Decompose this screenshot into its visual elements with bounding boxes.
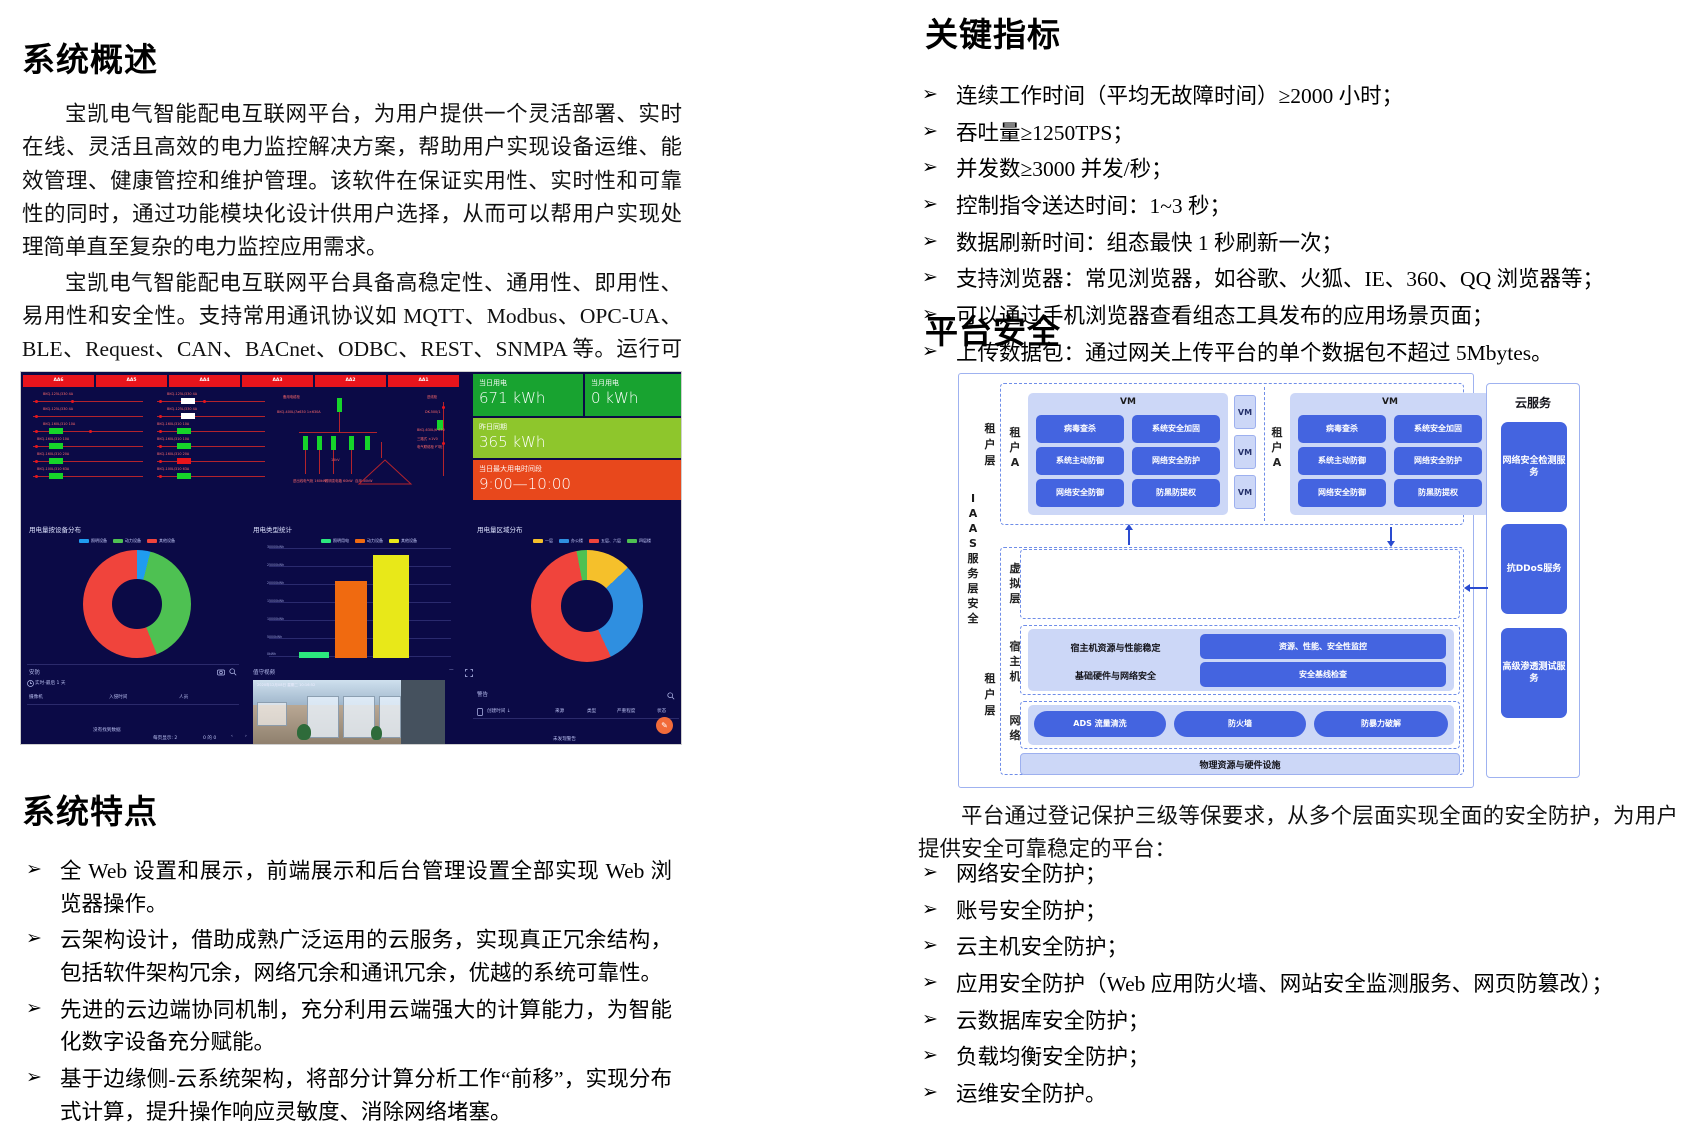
legend-label: 动力设备	[367, 538, 383, 544]
cloud-chip-network-security-detection[interactable]: 网络安全检测服务	[1501, 422, 1567, 512]
rows-per-page[interactable]: 每页显示: 2	[153, 735, 177, 741]
legend-swatch-power-use	[355, 539, 365, 543]
sld-column: 进线柜 DK-500/1 BKQ-630L/6 630 三路式 ×1V0 电气联…	[403, 392, 459, 496]
y-tick-label: 5000kWh	[267, 635, 282, 639]
legend-swatch-lighting-use	[321, 539, 331, 543]
list-item-text: 基于边缘侧-云系统架构，将部分计算分析工作“前移”，实现分布式计算，提升操作响应…	[60, 1067, 672, 1124]
page-title-kpi: 关键指标	[925, 8, 1061, 56]
list-item: ➢控制指令送达时间：1~3 秒；	[918, 190, 1658, 223]
list-item-text: 云数据库安全防护；	[956, 1009, 1150, 1033]
sld-label: 电气联络柜 PT柜	[417, 444, 443, 449]
arrow-left-icon	[1464, 584, 1470, 592]
list-item-text: 吞吐量≥1250TPS；	[956, 121, 1134, 145]
list-item-text: 连续工作时间（平均无故障时间）≥2000 小时；	[956, 84, 1403, 108]
host-left-text-1: 宿主机资源与性能稳定	[1038, 635, 1193, 659]
search-icon[interactable]	[229, 668, 237, 676]
left-column: 系统概述 宝凯电气智能配电互联网平台，为用户提供一个灵活部署、实时在线、灵活且高…	[0, 0, 780, 1123]
sld-label: BKQ-630L/6 630	[417, 428, 445, 432]
edit-fab-button[interactable]: ✎	[656, 717, 673, 734]
panel-subtitle-security: 实时-最后 1 天	[35, 680, 65, 686]
security-list: ➢网络安全防护； ➢账号安全防护； ➢云主机安全防护； ➢应用安全防护（Web …	[918, 858, 1678, 1115]
sld-header-bar: AA6 AA5 AA4 AA3 AA2 AA1	[23, 375, 459, 387]
sld-header-cell: AA3	[242, 375, 313, 387]
list-item: ➢云架构设计，借助成熟广泛运用的云服务，实现真正冗余结构，包括软件架构冗余，网络…	[22, 924, 672, 989]
sld-label: BKQ-125L/330 4A	[167, 392, 197, 396]
legend-swatch-other	[147, 539, 157, 543]
chart-title-area-donut: 用电量区域分布	[477, 524, 523, 534]
sld-body: BKQ-125L/330 4A BKQ-125L/330 4A BKQ-160L…	[23, 388, 459, 500]
col-header-severity[interactable]: 严重程度	[617, 708, 635, 714]
sld-header-cell: AA4	[169, 375, 240, 387]
kpi-value: 671 kWh	[479, 388, 577, 408]
list-item-text: 全 Web 设置和展示，前端展示和后台管理设置全部实现 Web 浏览器操作。	[60, 859, 672, 916]
sld-label: BKQ-160L/310 20A	[37, 452, 69, 456]
legend-item: 动力设备	[113, 538, 141, 544]
chip-network-protection[interactable]: 网络安全防护	[1394, 447, 1482, 475]
list-item: ➢数据刷新时间：组态最快 1 秒刷新一次；	[918, 227, 1658, 260]
cloud-services-column: 云服务 网络安全检测服务 抗DDoS服务 高级渗透测试服务	[1486, 383, 1580, 778]
list-item-text: 云主机安全防护；	[956, 935, 1128, 959]
next-page-icon[interactable]: ›	[245, 734, 247, 739]
arrow-bullet-icon: ➢	[922, 191, 938, 220]
col-header-type[interactable]: 类型	[587, 708, 596, 714]
chip-system-hardening[interactable]: 系统安全加固	[1394, 415, 1482, 443]
chip-anti-privilege-escalation[interactable]: 防黑防提权	[1394, 479, 1482, 507]
legend-swatch-floor4	[627, 539, 637, 543]
kpi-card-month-usage: 当月用电 0 kWh	[585, 374, 681, 416]
host-panel: 宿主机资源与性能稳定 基础硬件与网络安全 资源、性能、安全性监控 安全基线检查	[1028, 629, 1454, 691]
legend-item: 照明设备	[79, 538, 107, 544]
bar-chart-type-stats: 30000kWh 25000kWh 20000kWh 15000kWh 1000…	[269, 548, 451, 658]
list-item: ➢负载均衡安全防护；	[918, 1041, 1678, 1074]
chart-title-type-bar: 用电类型统计	[253, 524, 292, 534]
col-header-created[interactable]: 创建时间 ↓	[487, 708, 511, 714]
arrow-bullet-icon: ➢	[922, 859, 938, 888]
list-item-text: 支持浏览器：常见浏览器，如谷歌、火狐、IE、360、QQ 浏览器等；	[956, 267, 1604, 291]
bar-power	[335, 581, 367, 658]
y-tick-label: 10000kWh	[267, 617, 284, 621]
arrow-bullet-icon: ➢	[922, 118, 938, 147]
sld-label: BKQ-160L/310 10A	[37, 437, 69, 441]
list-item: ➢先进的云边端协同机制，充分利用云端强大的计算能力，为智能化数字设备充分赋能。	[22, 994, 672, 1059]
kpi-card-yesterday-usage: 昨日同期 365 kWh	[473, 418, 681, 458]
y-tick-label: 25000kWh	[267, 563, 284, 567]
legend-label: 照明用电	[333, 538, 349, 544]
arrow-bullet-icon: ➢	[922, 264, 938, 293]
col-header-person: 人员	[179, 694, 188, 700]
sld-label: 备用电缆柜	[283, 394, 300, 399]
sld-label: BKQ-100L/310 63A	[37, 467, 69, 471]
video-feed[interactable]: 2020年12月08日 星期二 10:16:52	[253, 680, 445, 745]
iaas-vertical-label: IAAS服务层安全	[966, 491, 980, 626]
arrow-up-icon	[1125, 524, 1133, 530]
list-item-text: 先进的云边端协同机制，充分利用云端强大的计算能力，为智能化数字设备充分赋能。	[60, 998, 672, 1055]
list-item: ➢运维安全防护。	[918, 1078, 1678, 1111]
arrow-bullet-icon: ➢	[26, 995, 42, 1024]
donut-chart-device-distribution	[83, 550, 191, 658]
sld-label: BKQ-160L/310 10A	[43, 422, 75, 426]
list-item-text: 负载均衡安全防护；	[956, 1045, 1150, 1069]
prev-page-icon[interactable]: ‹	[231, 734, 233, 739]
list-item: ➢支持浏览器：常见浏览器，如谷歌、火狐、IE、360、QQ 浏览器等；	[918, 263, 1658, 296]
sld-label: DK-500/1	[425, 410, 440, 414]
arrow-bullet-icon: ➢	[922, 1006, 938, 1035]
panel-title-alarm: 警告	[477, 690, 488, 698]
legend-item: 动力设备	[355, 538, 383, 544]
network-panel: ADS 流量清洗 防火墙 防暴力破解	[1028, 705, 1454, 745]
sld-label: BKQ-125L/330 4A	[167, 407, 197, 411]
legend-swatch-lighting	[79, 539, 89, 543]
list-item: ➢应用安全防护（Web 应用防火墙、网站安全监测服务、网页防篡改）；	[918, 968, 1678, 1001]
legend-label: 其他设备	[401, 538, 417, 544]
legend-label: 办公楼	[571, 538, 583, 544]
kpi-label: 当日最大用电时间段	[479, 464, 675, 474]
y-tick-label: 0kWh	[267, 652, 276, 656]
cloud-chip-anti-ddos[interactable]: 抗DDoS服务	[1501, 524, 1567, 614]
list-item-text: 并发数≥3000 并发/秒；	[956, 157, 1173, 181]
tenant-layer-label-bottom: 租户层	[982, 671, 998, 719]
sld-label: BKQ-125L/330 4A	[43, 407, 73, 411]
page-title-overview: 系统概述	[22, 33, 158, 81]
features-list: ➢全 Web 设置和展示，前端展示和后台管理设置全部实现 Web 浏览器操作。 …	[22, 855, 672, 1132]
clock-icon	[27, 680, 34, 687]
video-timestamp: 2020年12月08日 星期二 10:16:52	[257, 683, 315, 688]
list-item: ➢账号安全防护；	[918, 895, 1678, 928]
sld-label: BKQ-125L/330 4A	[43, 392, 73, 396]
bar-lighting	[299, 652, 329, 658]
arrow-bullet-icon: ➢	[26, 925, 42, 954]
minimize-icon[interactable]: —	[449, 668, 454, 673]
legend-label: 动力设备	[125, 538, 141, 544]
legend-type-bar: 照明用电 动力设备 其他设备	[321, 538, 417, 544]
host-left-text-2: 基础硬件与网络安全	[1038, 663, 1193, 687]
overview-paragraph-1: 宝凯电气智能配电互联网平台，为用户提供一个灵活部署、实时在线、灵活且高效的电力监…	[22, 98, 682, 265]
arrow-bullet-icon: ➢	[922, 969, 938, 998]
chip-resource-monitoring[interactable]: 资源、性能、安全性监控	[1200, 634, 1446, 659]
page-title-security: 平台安全	[925, 305, 1061, 353]
chip-anti-brute-force[interactable]: 防暴力破解	[1314, 711, 1448, 737]
dashboard-screenshot: AA6 AA5 AA4 AA3 AA2 AA1 BKQ-125L/330 4A	[20, 371, 682, 745]
security-paragraph: 平台通过登记保护三级等保要求，从多个层面实现全面的安全防护，为用户提供安全可靠稳…	[918, 800, 1678, 867]
chip-ads-traffic-cleaning[interactable]: ADS 流量清洗	[1034, 711, 1166, 737]
sld-label: BKQ-160L/310 10A	[157, 422, 189, 426]
vm-slot[interactable]: VM	[1234, 475, 1256, 509]
legend-swatch-power	[113, 539, 123, 543]
chip-virus-scan[interactable]: 病毒查杀	[1298, 415, 1386, 443]
chip-system-hardening[interactable]: 系统安全加固	[1132, 415, 1220, 443]
chip-active-defense[interactable]: 系统主动防御	[1036, 447, 1124, 475]
legend-item: 其他设备	[389, 538, 417, 544]
kpi-card-peak-window: 当日最大用电时间段 9:00—10:00	[473, 460, 681, 500]
legend-label: 五层、六层	[601, 538, 621, 544]
legend-item: 四层楼	[627, 538, 651, 544]
sld-label: BKQ-160L/310 10A	[157, 437, 189, 441]
list-item-text: 数据刷新时间：组态最快 1 秒刷新一次；	[956, 231, 1343, 255]
vm-title: VM	[1028, 397, 1228, 407]
chip-virus-scan[interactable]: 病毒查杀	[1036, 415, 1124, 443]
kpi-value: 0 kWh	[591, 388, 675, 408]
panel-title-security: 安防	[29, 668, 40, 676]
list-item: ➢吞吐量≥1250TPS；	[918, 117, 1658, 150]
fullscreen-icon[interactable]	[465, 669, 473, 677]
tenant-layer-label-top: 租户层	[982, 421, 998, 469]
col-header-camera: 摄像机	[29, 694, 43, 700]
tenant-a-label-left: 租户A	[1008, 425, 1022, 470]
sld-label: 进线柜	[427, 394, 437, 399]
arrow-bullet-icon: ➢	[922, 81, 938, 110]
single-line-diagram: AA6 AA5 AA4 AA3 AA2 AA1 BKQ-125L/330 4A	[21, 372, 461, 502]
sld-header-cell: AA5	[96, 375, 167, 387]
sld-header-cell: AA6	[23, 375, 94, 387]
list-item: ➢基于边缘侧-云系统架构，将部分计算分析工作“前移”，实现分布式计算，提升操作响…	[22, 1063, 672, 1128]
list-item-text: 账号安全防护；	[956, 899, 1107, 923]
kpi-label: 当日用电	[479, 378, 577, 388]
empty-state-security: 没有找到数据	[93, 727, 121, 733]
cloud-services-title: 云服务	[1487, 394, 1579, 411]
arrow-bullet-icon: ➢	[922, 1079, 938, 1108]
y-tick-label: 30000kWh	[267, 545, 284, 549]
chip-network-defense[interactable]: 网络安全防御	[1298, 479, 1386, 507]
list-item: ➢网络安全防护；	[918, 858, 1678, 891]
list-item: ➢连续工作时间（平均无故障时间）≥2000 小时；	[918, 80, 1658, 113]
bar-other	[373, 555, 409, 658]
legend-label: 一层	[545, 538, 553, 544]
arrow-bullet-icon: ➢	[26, 1064, 42, 1093]
vm-slot[interactable]: VM	[1234, 435, 1256, 469]
vm-slot[interactable]: VM	[1234, 395, 1256, 429]
sld-label: 三路式 ×1V0	[417, 436, 438, 441]
list-item: ➢全 Web 设置和展示，前端展示和后台管理设置全部实现 Web 浏览器操作。	[22, 855, 672, 920]
col-header-source[interactable]: 来源	[555, 708, 564, 714]
document-page: 系统概述 宝凯电气智能配电互联网平台，为用户提供一个灵活部署、实时在线、灵活且高…	[0, 0, 1700, 1123]
arrow-up-shaft	[1128, 529, 1130, 545]
kpi-card-today-usage: 当日用电 671 kWh	[473, 374, 583, 416]
chip-network-protection[interactable]: 网络安全防护	[1132, 447, 1220, 475]
list-item-text: 云架构设计，借助成熟广泛运用的云服务，实现真正冗余结构，包括软件架构冗余，网络冗…	[60, 928, 672, 985]
tenant-a-label-right: 租户A	[1270, 425, 1284, 470]
vm-panel-left: VM 病毒查杀 系统安全加固 系统主动防御 网络安全防护 网络安全防御 防黑防提…	[1028, 393, 1228, 515]
empty-state-alarm: 未发现警告	[553, 736, 576, 742]
right-column: 关键指标 ➢连续工作时间（平均无故障时间）≥2000 小时； ➢吞吐量≥1250…	[900, 0, 1700, 1123]
camera-icon[interactable]	[217, 668, 225, 676]
panel-title-video: 值守视频	[253, 668, 275, 676]
security-architecture-diagram: IAAS服务层安全 租户层 租户层 租户A VM 病毒查杀 系统安全加固 系统主…	[958, 373, 1588, 788]
list-item: ➢并发数≥3000 并发/秒；	[918, 153, 1658, 186]
col-header-status[interactable]: 状态	[657, 708, 666, 714]
chip-network-defense[interactable]: 网络安全防御	[1036, 479, 1124, 507]
physical-resources-bar: 物理资源与硬件设施	[1020, 753, 1460, 775]
arrow-bullet-icon: ➢	[922, 1042, 938, 1071]
legend-item: 其他设备	[147, 538, 175, 544]
sld-label: 进出线电气柜 160kW	[293, 478, 326, 483]
donut-chart-area-distribution	[531, 550, 643, 662]
sld-header-cell: AA2	[315, 375, 386, 387]
kpi-value: 365 kWh	[479, 432, 675, 452]
search-icon[interactable]	[667, 692, 675, 700]
chart-title-device-donut: 用电量按设备分布	[29, 524, 81, 534]
y-tick-label: 15000kWh	[267, 599, 284, 603]
page-indicator: 0 的 0	[203, 735, 216, 741]
list-item: ➢云主机安全防护；	[918, 931, 1678, 964]
list-item-text: 运维安全防护。	[956, 1082, 1107, 1106]
kpi-cards: 当日用电 671 kWh 当月用电 0 kWh 昨日同期 365 kWh 当日最…	[473, 374, 681, 500]
kpi-value: 9:00—10:00	[479, 474, 675, 494]
y-tick-label: 20000kWh	[267, 581, 284, 585]
legend-label: 其他设备	[159, 538, 175, 544]
sld-column: BKQ-125L/330 4A BKQ-125L/330 4A BKQ-160L…	[27, 392, 147, 496]
legend-area-donut: 一层 办公楼 五层、六层 四层楼	[533, 538, 651, 544]
vm-title: VM	[1290, 397, 1490, 407]
chip-active-defense[interactable]: 系统主动防御	[1298, 447, 1386, 475]
chip-firewall[interactable]: 防火墙	[1174, 711, 1306, 737]
vm-panel-right: VM 病毒查杀 系统安全加固 系统主动防御 网络安全防护 网络安全防御 防黑防提…	[1290, 393, 1490, 515]
chip-anti-privilege-escalation[interactable]: 防黑防提权	[1132, 479, 1220, 507]
sld-label: 15kV	[331, 458, 340, 462]
list-item: ➢云数据库安全防护；	[918, 1005, 1678, 1038]
col-header-time: 入侵时间	[109, 694, 127, 700]
chip-security-baseline-check[interactable]: 安全基线检查	[1200, 662, 1446, 687]
legend-swatch-office	[559, 539, 569, 543]
arrow-bullet-icon: ➢	[26, 856, 42, 885]
legend-item: 办公楼	[559, 538, 583, 544]
arrow-bullet-icon: ➢	[922, 154, 938, 183]
sld-column: BKQ-125L/330 4A BKQ-125L/330 4A BKQ-160L…	[151, 392, 271, 496]
sld-label: BKQ-400L/7a630 1×630A	[277, 410, 321, 414]
kpi-label: 当月用电	[591, 378, 675, 388]
legend-item: 照明用电	[321, 538, 349, 544]
page-title-features: 系统特点	[22, 785, 158, 833]
list-item-text: 应用安全防护（Web 应用防火墙、网站安全监测服务、网页防篡改）；	[956, 972, 1613, 996]
legend-label: 照明设备	[91, 538, 107, 544]
sld-header-cell: AA1	[388, 375, 459, 387]
sld-label: BKQ-160L/310 20A	[157, 452, 189, 456]
list-item-text: 网络安全防护；	[956, 862, 1107, 886]
arrow-left-shaft	[1470, 587, 1488, 589]
legend-swatch-other-use	[389, 539, 399, 543]
legend-label: 四层楼	[639, 538, 651, 544]
arrow-bullet-icon: ➢	[922, 896, 938, 925]
arrow-bullet-icon: ➢	[922, 932, 938, 961]
list-item-text: 控制指令送达时间：1~3 秒；	[956, 194, 1231, 218]
device-icon	[477, 708, 483, 716]
legend-item: 五层、六层	[589, 538, 621, 544]
legend-swatch-floor56	[589, 539, 599, 543]
legend-item: 一层	[533, 538, 553, 544]
legend-swatch-floor1	[533, 539, 543, 543]
cloud-chip-penetration-test[interactable]: 高级渗透测试服务	[1501, 628, 1567, 718]
legend-device-donut: 照明设备 动力设备 其他设备	[79, 538, 175, 544]
kpi-label: 昨日同期	[479, 422, 675, 432]
arrow-bullet-icon: ➢	[922, 228, 938, 257]
sld-label: BKQ-100L/310 63A	[157, 467, 189, 471]
